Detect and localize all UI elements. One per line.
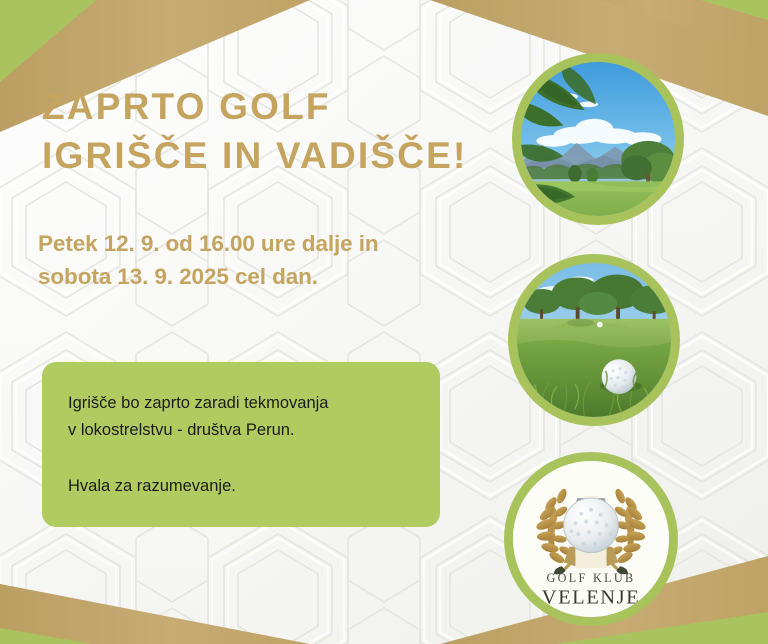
poster-canvas: ZAPRTO GOLF IGRIŠČE IN VADIŠČE! Petek 12… [0, 0, 768, 644]
golf-ball-photo-image [517, 263, 671, 417]
lake-photo-image [521, 62, 675, 216]
logo-line-2: VELENJE [542, 586, 640, 608]
closure-dates-text: Petek 12. 9. od 16.00 ure dalje in sobot… [38, 228, 478, 293]
page-title: ZAPRTO GOLF IGRIŠČE IN VADIŠČE! [42, 82, 512, 180]
notice-thanks-text: Hvala za razumevanje. [68, 474, 420, 499]
logo-artwork: GOLF KLUB VELENJE [513, 461, 669, 617]
lake-and-mountains-photo [512, 53, 684, 225]
notice-reason-text: Igrišče bo zaprto zaradi tekmovanja v lo… [68, 390, 420, 443]
notice-card: Igrišče bo zaprto zaradi tekmovanja v lo… [42, 362, 440, 527]
golf-ball-on-grass-photo [508, 254, 680, 426]
golf-klub-velenje-logo: GOLF KLUB VELENJE [504, 452, 678, 626]
logo-line-1: GOLF KLUB [546, 571, 635, 585]
